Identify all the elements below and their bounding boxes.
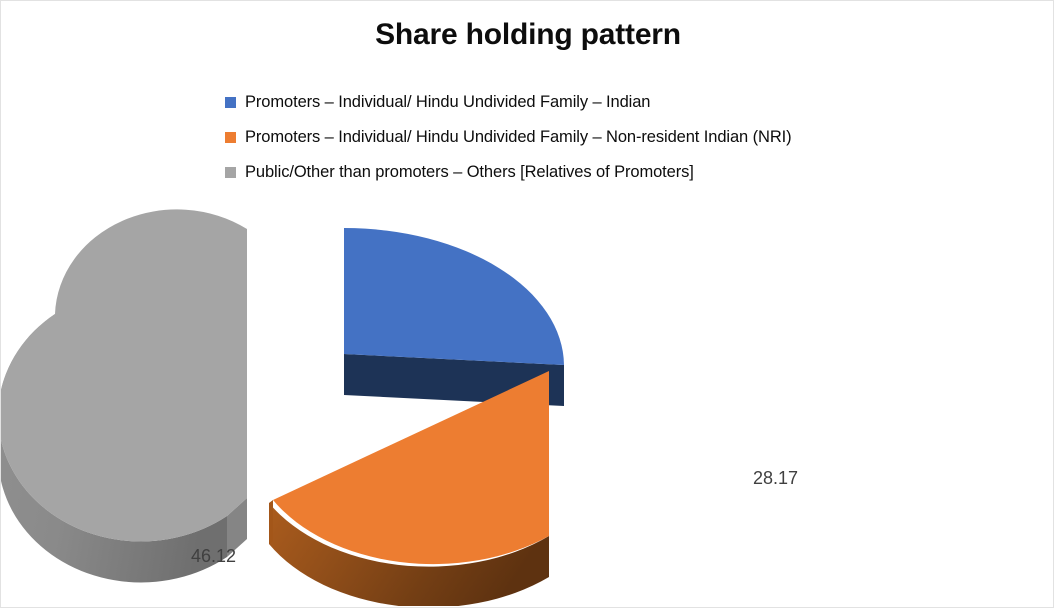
legend-item-orange[interactable]: Promoters – Individual/ Hindu Undivided … [225, 120, 985, 155]
data-label-blue: 28.17 [753, 468, 798, 489]
legend-swatch-blue [225, 97, 236, 108]
pie-chart-plot: 28.17 25.71 46.12 [1, 206, 1054, 606]
legend-item-label: Public/Other than promoters – Others [Re… [245, 163, 694, 182]
orange-slice-radius-wall [269, 500, 273, 544]
legend-swatch-gray [225, 167, 236, 178]
chart-legend: Promoters – Individual/ Hindu Undivided … [225, 85, 985, 190]
legend-swatch-orange [225, 132, 236, 143]
chart-page: Share holding pattern Promoters – Indivi… [0, 0, 1054, 608]
legend-item-label: Promoters – Individual/ Hindu Undivided … [245, 93, 650, 112]
legend-item-blue[interactable]: Promoters – Individual/ Hindu Undivided … [225, 85, 985, 120]
page-title: Share holding pattern [1, 18, 1054, 52]
legend-item-gray[interactable]: Public/Other than promoters – Others [Re… [225, 155, 985, 190]
legend-item-label: Promoters – Individual/ Hindu Undivided … [245, 128, 792, 147]
pie-svg-render [1, 206, 1054, 606]
data-label-gray: 46.12 [191, 546, 236, 567]
